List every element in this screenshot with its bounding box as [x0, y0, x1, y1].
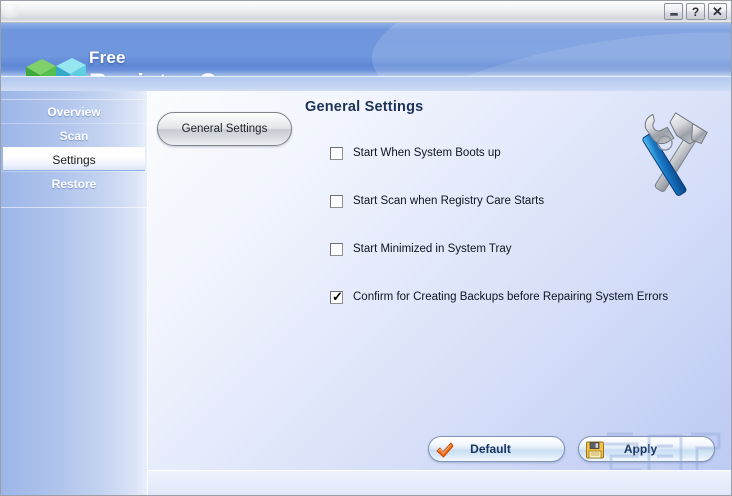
orange-check-icon: [435, 440, 455, 460]
sidebar-item-scan[interactable]: Scan: [1, 123, 147, 147]
action-button-bar: Default Apply: [428, 436, 715, 462]
minimize-icon: [670, 13, 678, 16]
help-icon: ?: [692, 6, 699, 18]
help-button[interactable]: ?: [686, 3, 705, 20]
default-button[interactable]: Default: [428, 436, 565, 462]
option-label: Start Scan when Registry Care Starts: [353, 195, 544, 207]
window-menu-icon: [4, 4, 18, 18]
tab-general-settings[interactable]: General Settings: [157, 112, 292, 146]
checkbox-start-on-boot[interactable]: [330, 147, 343, 160]
option-label: Start When System Boots up: [353, 147, 501, 159]
header-lower-band: [1, 76, 731, 91]
title-bar: ? ✕: [1, 1, 731, 23]
minimize-button[interactable]: [664, 3, 683, 20]
application-window: ? ✕ Free: [0, 0, 732, 496]
sidebar-navigation: Overview Scan Settings Restore: [1, 91, 148, 496]
sidebar-item-settings[interactable]: Settings: [3, 147, 145, 171]
page-title: General Settings: [305, 99, 423, 115]
body-area: Overview Scan Settings Restore General S…: [1, 91, 731, 496]
settings-options-list: Start When System Boots up Start Scan wh…: [330, 143, 730, 307]
checkbox-start-minimized[interactable]: [330, 243, 343, 256]
sidebar-item-label: Settings: [52, 153, 95, 167]
close-icon: ✕: [712, 5, 723, 18]
close-button[interactable]: ✕: [708, 3, 727, 20]
sidebar-divider: [1, 207, 147, 208]
sidebar-item-label: Scan: [60, 129, 89, 143]
app-header: Free Registry Care: [1, 23, 731, 91]
checkbox-start-scan-on-launch[interactable]: [330, 195, 343, 208]
option-label: Confirm for Creating Backups before Repa…: [353, 291, 668, 303]
option-label: Start Minimized in System Tray: [353, 243, 511, 255]
checkbox-confirm-backups[interactable]: ✓: [330, 291, 343, 304]
sidebar-item-restore[interactable]: Restore: [1, 171, 147, 195]
sidebar-item-overview[interactable]: Overview: [1, 99, 147, 123]
tab-label: General Settings: [182, 123, 268, 135]
checkmark-icon: ✓: [332, 290, 343, 303]
option-confirm-backups[interactable]: ✓ Confirm for Creating Backups before Re…: [330, 287, 730, 307]
content-panel: General Settings General Settings: [148, 91, 731, 496]
sidebar-item-label: Restore: [52, 177, 97, 191]
footer-strip: [148, 470, 731, 496]
option-start-scan-on-launch[interactable]: Start Scan when Registry Care Starts: [330, 191, 730, 211]
window-controls: ? ✕: [664, 3, 727, 20]
brand-line-1: Free: [89, 49, 255, 66]
apply-button[interactable]: Apply: [578, 436, 715, 462]
floppy-save-icon: [585, 440, 605, 460]
option-start-on-boot[interactable]: Start When System Boots up: [330, 143, 730, 163]
sidebar-item-label: Overview: [47, 105, 100, 119]
option-start-minimized[interactable]: Start Minimized in System Tray: [330, 239, 730, 259]
